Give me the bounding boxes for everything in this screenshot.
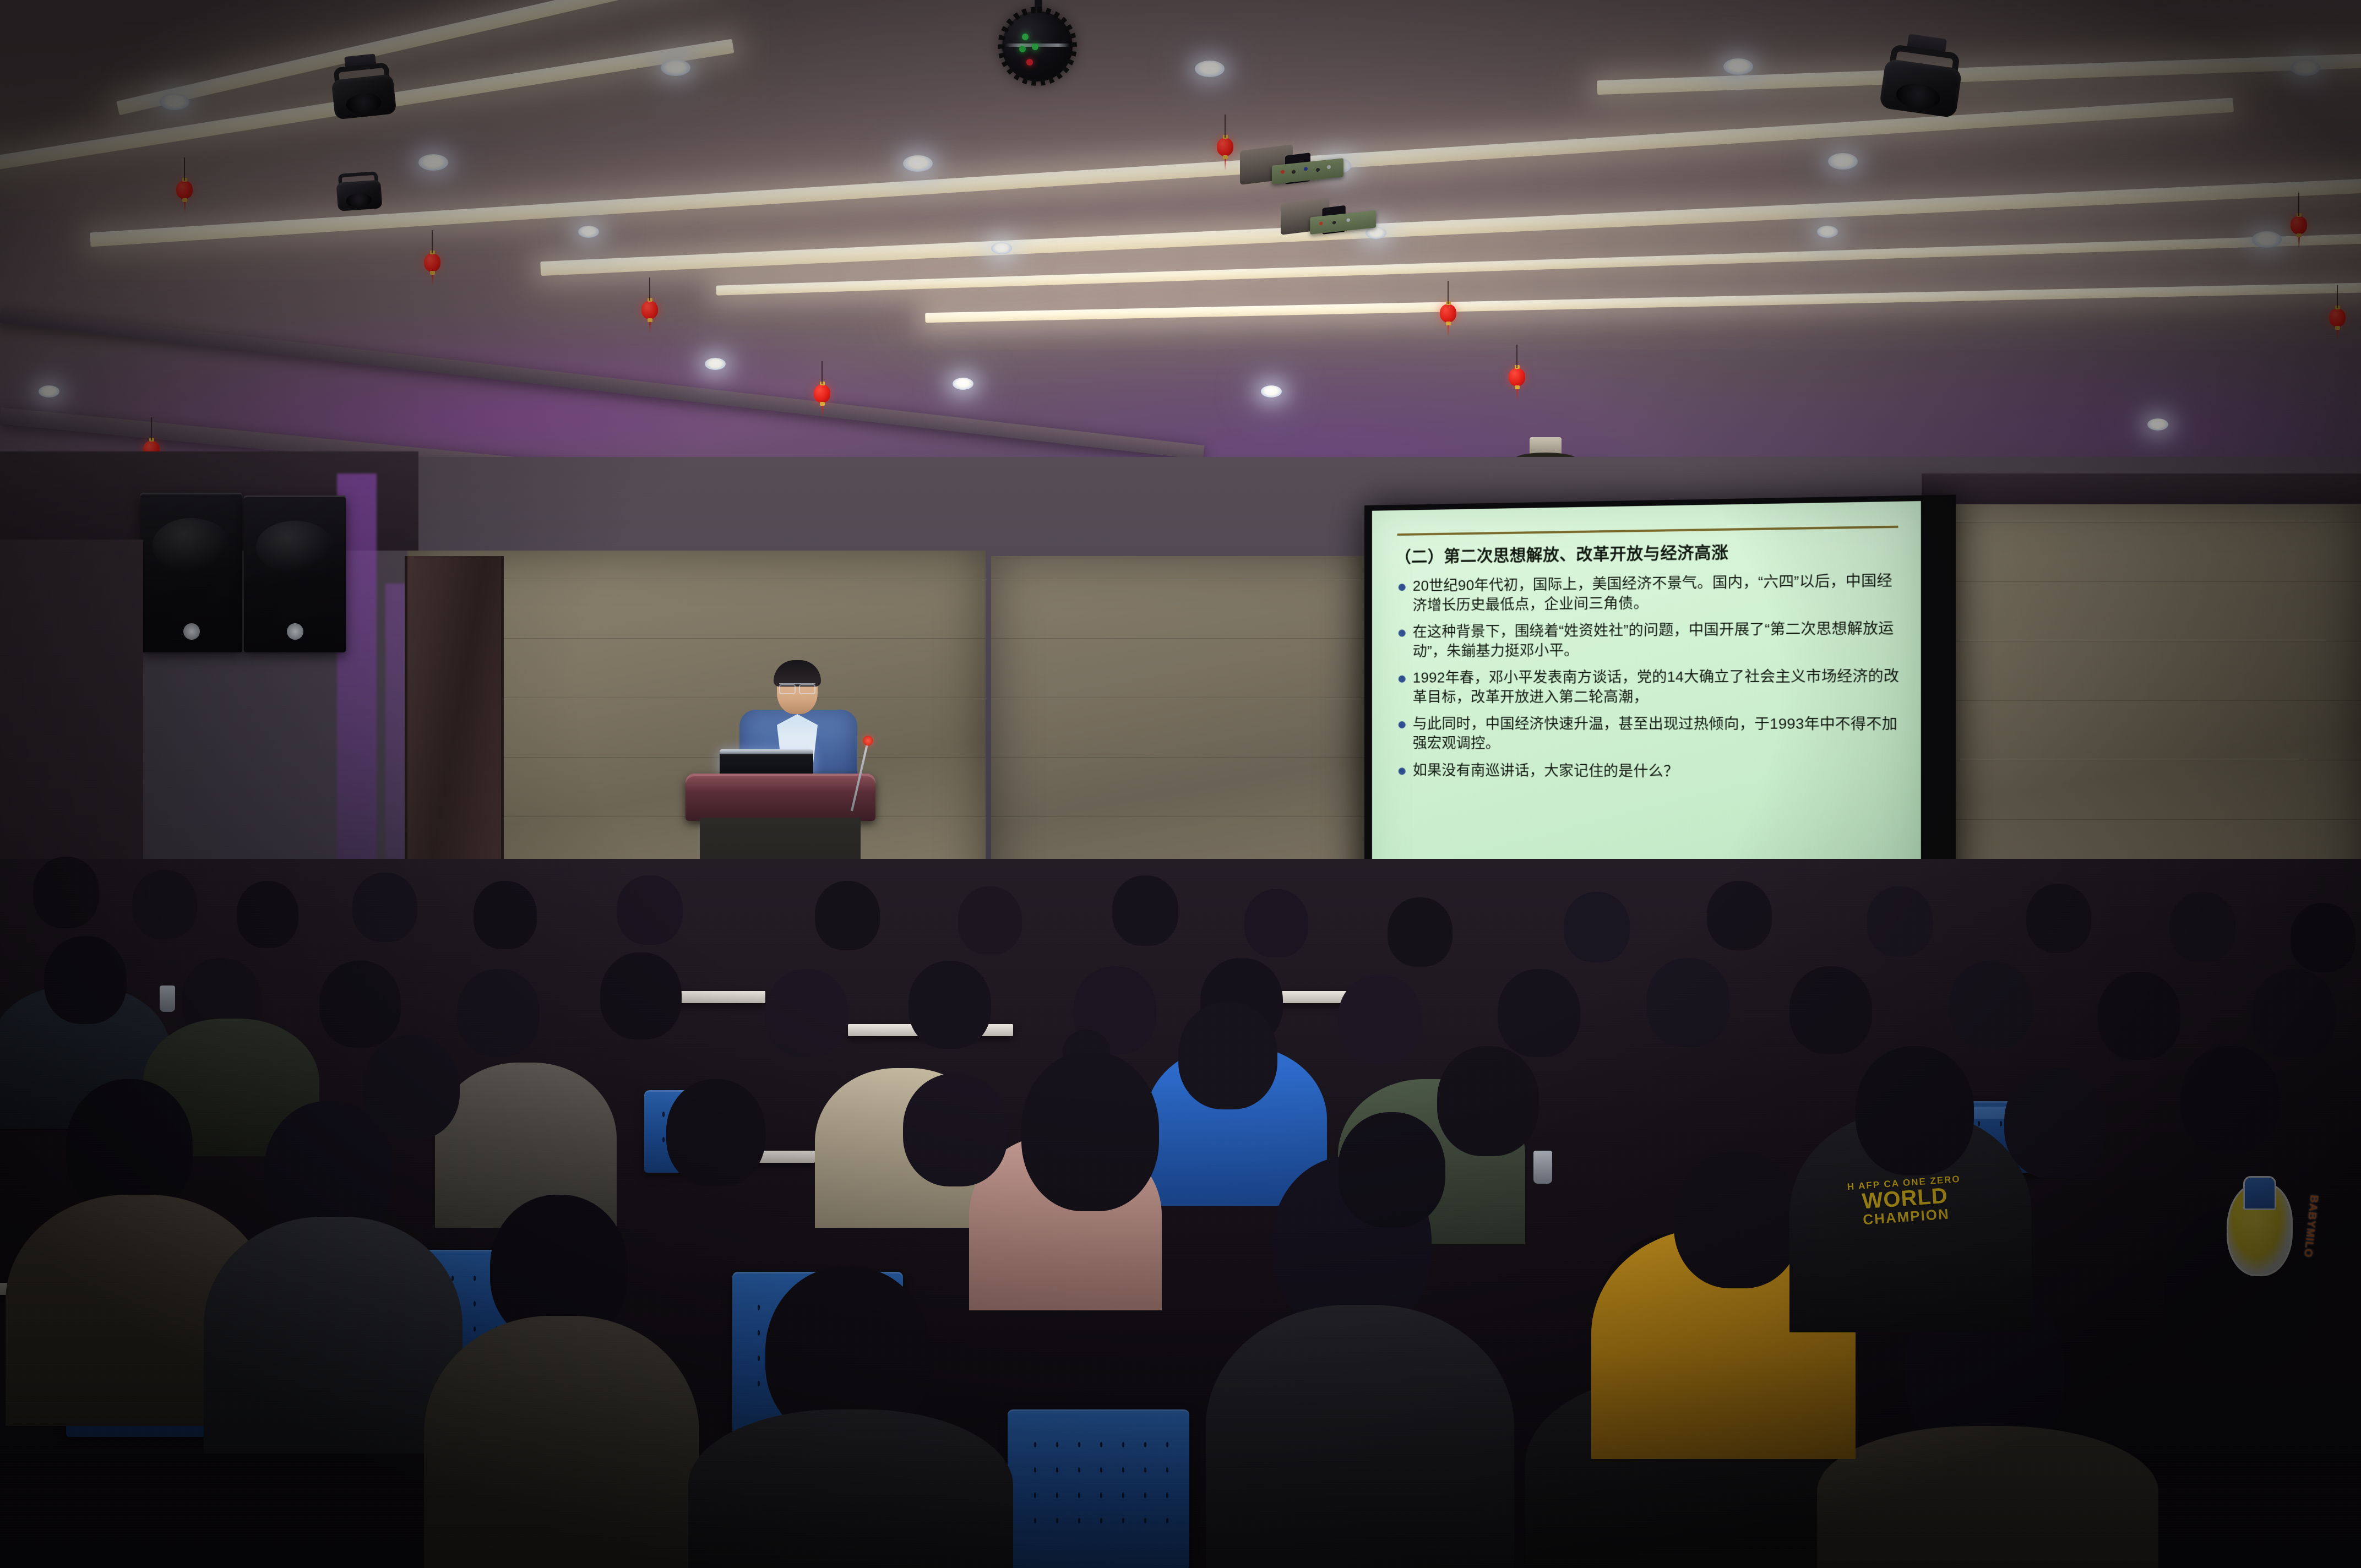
audience-head (319, 961, 401, 1048)
drink-cup (160, 986, 175, 1012)
red-lantern (2329, 308, 2346, 327)
stage-moving-head-light (334, 171, 384, 213)
audience-head (1178, 1002, 1277, 1109)
projection-screen: （二）第二次思想解放、改革开放与经济高涨 20世纪90年代初，国际上，美国经济不… (1372, 501, 1921, 916)
red-lantern (1217, 138, 1233, 156)
audience-head (1498, 969, 1580, 1057)
ball-led-green (1032, 43, 1038, 50)
audience-head (1674, 1151, 1800, 1288)
ceiling-downlight (2291, 59, 2320, 76)
audience-head (1856, 1046, 1974, 1175)
presenter-glasses (779, 683, 815, 692)
ceiling-downlight (578, 226, 599, 238)
ceiling-downlight (1817, 226, 1838, 238)
ceiling-downlight (1723, 58, 1753, 75)
stage-par-light-with-controller (1240, 142, 1323, 186)
red-lantern (641, 301, 658, 319)
ceiling-downlight (2252, 231, 2282, 248)
drink-cup (1533, 1151, 1552, 1184)
audience-shoulders (424, 1316, 699, 1568)
ceiling-downlight (661, 59, 690, 76)
audience-head (909, 961, 991, 1049)
audience-head (1338, 974, 1422, 1064)
ceiling-downlight (903, 155, 933, 172)
slide-bullet-5: 如果没有南巡讲话，大家记住的是什么？ (1395, 760, 1901, 782)
pa-speaker-left-b (244, 496, 346, 652)
speaker-cone (153, 518, 230, 573)
audience-head (474, 881, 537, 949)
speaker-cone (256, 521, 334, 574)
red-lantern (1509, 368, 1525, 386)
podium-top-surface (686, 774, 875, 821)
ceiling-downlight (2147, 418, 2168, 431)
pa-speaker-left-a (140, 493, 242, 652)
audience-head (600, 952, 682, 1039)
stage-par-light-with-controller (1281, 195, 1357, 236)
audience-head (815, 881, 880, 950)
stage-moving-head-light (328, 62, 399, 121)
audience-shoulders (1817, 1426, 2158, 1568)
ceiling-downlight (1828, 153, 1858, 170)
red-lantern (176, 181, 193, 199)
audience-head (2004, 1068, 2106, 1178)
red-lantern (2291, 216, 2307, 235)
ball-led-green (1022, 34, 1029, 40)
audience-head (2291, 903, 2355, 972)
audience-head (2252, 969, 2336, 1058)
slide-bullet-2: 在这种背景下，围绕着“姓资姓社”的问题，中国开展了“第二次思想解放运动”，朱鎆基… (1395, 618, 1901, 661)
ball-led-red (1026, 59, 1033, 66)
audience-head (1707, 881, 1772, 950)
audience-head (457, 969, 540, 1057)
audience-head (1112, 875, 1178, 946)
slide-bullet-1: 20世纪90年代初，国际上，美国经济不景气。国内，“六四”以后，中国经济增长历史… (1395, 570, 1901, 614)
lecture-hall-photo: EPSON （二）第二次思想解放、改革开放与经济高涨 20世纪90年代初，国际上… (0, 0, 2361, 1568)
chair-perforations (1024, 1432, 1173, 1534)
audience-head (903, 1074, 1008, 1186)
red-lantern (424, 253, 440, 272)
audience-head (2026, 884, 2091, 953)
led-mirror-ball (1002, 11, 1073, 81)
audience-head (363, 1035, 460, 1140)
audience-head (1867, 886, 1933, 957)
presentation-slide: （二）第二次思想解放、改革开放与经济高涨 20世纪90年代初，国际上，美国经济不… (1372, 501, 1921, 916)
audience-head (1244, 889, 1308, 957)
audience-head (666, 1079, 765, 1186)
ceiling-downlight (39, 385, 59, 398)
slide-bullet-3: 1992年春，邓小平发表南方谈话，党的14大确立了社会主义市场经济的改革目标，改… (1395, 666, 1901, 706)
ball-led-green (1019, 46, 1026, 52)
ceiling-downlight (1261, 385, 1282, 398)
ceiling-downlight (991, 242, 1012, 254)
audience-shoulders (204, 1217, 463, 1453)
red-lantern (814, 384, 830, 403)
audience-head (1646, 958, 1730, 1047)
slide-bullet-list: 20世纪90年代初，国际上，美国经济不景气。国内，“六四”以后，中国经济增长历史… (1395, 570, 1901, 782)
audience-head (352, 873, 417, 942)
audience-head (1564, 892, 1630, 962)
hall-door-left (405, 556, 504, 908)
audience-head (1338, 1112, 1445, 1228)
audience-chair[interactable] (1008, 1409, 1189, 1568)
ceiling-downlight (1195, 61, 1225, 77)
slide-title: （二）第二次思想解放、改革开放与经济高涨 (1395, 537, 1901, 568)
audience-head (1949, 961, 2033, 1050)
slide-top-rule (1397, 526, 1898, 536)
audience-head (1021, 1052, 1159, 1211)
speaker-brand-badge (183, 623, 200, 640)
audience-head (617, 875, 683, 945)
audience-head (33, 857, 99, 928)
audience-shoulders (688, 1409, 1013, 1568)
presenter-hair (774, 660, 821, 687)
slide-bullet-4: 与此同时，中国经济快速升温，甚至出现过热倾向，于1993年中不得不加强宏观调控。 (1395, 714, 1901, 754)
milo-character-hair (2243, 1176, 2276, 1210)
ceiling-downlight (1366, 227, 1386, 239)
audience-head (2169, 892, 2235, 962)
audience-head (1789, 966, 1872, 1054)
ceiling-downlight (705, 358, 726, 370)
audience-head (1437, 1046, 1539, 1156)
audience-head (765, 969, 848, 1057)
ceiling-downlight (953, 378, 973, 390)
audience-head (237, 881, 298, 948)
wall-dark-header-right (1922, 473, 2361, 504)
babymilo-brand-text: BABYMILO (2301, 1194, 2320, 1258)
ceiling-downlight (418, 154, 448, 171)
audience-head (1388, 897, 1452, 967)
red-lantern (1440, 304, 1456, 323)
audience-head (132, 870, 197, 939)
audience-head (2098, 972, 2180, 1060)
babymilo-backpack-print: BABYMILO (2219, 1173, 2318, 1288)
audience-head (44, 936, 127, 1024)
audience-shoulders (1206, 1305, 1514, 1568)
speaker-brand-badge (287, 623, 303, 640)
audience-head (958, 886, 1022, 955)
wall-purple-accent-left2 (385, 584, 407, 892)
stage-moving-head-light (1876, 43, 1967, 120)
audience-head (2180, 1046, 2280, 1153)
ceiling-downlight (160, 94, 189, 110)
